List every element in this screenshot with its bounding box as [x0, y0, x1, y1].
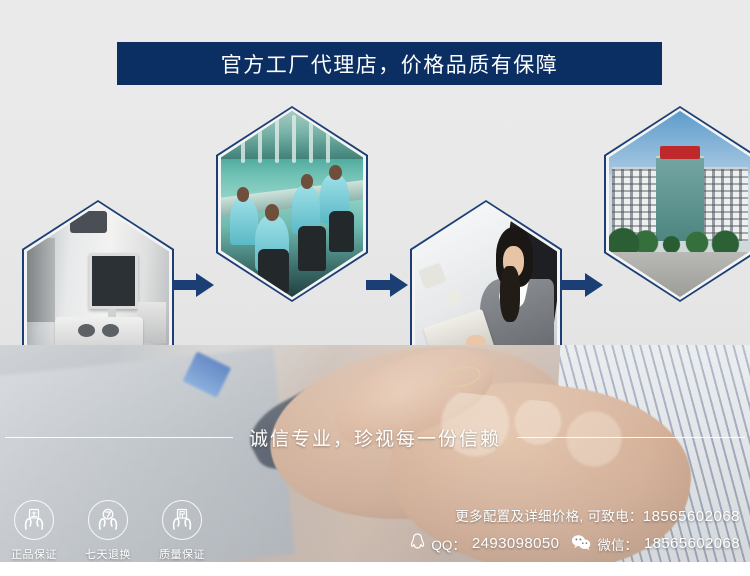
- arrow-right-icon: [172, 272, 214, 298]
- photo-detail: [258, 115, 262, 163]
- photo-detail: [275, 115, 279, 163]
- contact-phone-prefix: 更多配置及详细价格, 可致电：: [455, 509, 643, 524]
- page-title: 官方工厂代理店，价格品质有保障: [221, 49, 559, 79]
- qq-number[interactable]: 2493098050: [472, 535, 559, 552]
- flow-step-factory[interactable]: [216, 106, 368, 302]
- promo-page: 官方工厂代理店，价格品质有保障: [0, 0, 750, 576]
- photo-detail: [329, 165, 342, 180]
- flow-step-company[interactable]: [604, 106, 750, 302]
- hands-quality-icon: [162, 500, 202, 540]
- slogan-rule-left: [5, 437, 233, 438]
- qq-label: QQ：: [431, 534, 466, 554]
- bottom-white-bar: [0, 562, 750, 576]
- contact-phone-number[interactable]: 18565602068: [643, 508, 740, 525]
- top-section: 官方工厂代理店，价格品质有保障: [0, 0, 750, 345]
- slogan-rule-right: [517, 437, 745, 438]
- photo-detail: [329, 211, 355, 252]
- qq-penguin-icon: [410, 533, 425, 554]
- photo-detail: [265, 204, 279, 221]
- photo-detail: [326, 115, 330, 163]
- trust-banner-section: 诚信专业，珍视每一份信赖 正品保证: [0, 345, 750, 562]
- process-flow: [0, 100, 750, 330]
- wechat-number[interactable]: 18565602068: [644, 535, 740, 552]
- photo-detail: [298, 226, 326, 271]
- slogan-text: 诚信专业，珍视每一份信赖: [249, 424, 501, 451]
- badge-genuine: 正品保证: [8, 500, 60, 562]
- photo-detail: [70, 211, 107, 233]
- badge-quality: 质量保证: [156, 500, 208, 562]
- contact-block: 更多配置及详细价格, 可致电：18565602068 QQ：2493098050: [410, 505, 740, 554]
- photo-detail: [292, 115, 296, 163]
- slogan-row: 诚信专业，珍视每一份信赖: [0, 424, 750, 451]
- photo-detail: [500, 266, 520, 322]
- contact-im-row: QQ：2493098050 微信：18565602068: [410, 533, 740, 554]
- badge-label: 七天退换: [82, 546, 134, 562]
- photo-detail: [446, 289, 462, 306]
- wechat-label: 微信：: [597, 534, 638, 554]
- guarantee-badges: 正品保证 七天退换: [8, 500, 208, 562]
- badge-seven-day-return: 七天退换: [82, 500, 134, 562]
- photo-detail-monitor: [89, 253, 137, 309]
- hands-genuine-icon: [14, 500, 54, 540]
- contact-phone-row: 更多配置及详细价格, 可致电：18565602068: [410, 505, 740, 525]
- arrow-right-icon: [561, 272, 603, 298]
- photo-detail-signage: [660, 146, 700, 159]
- hands-seven-day-return-icon: [88, 500, 128, 540]
- photo-detail: [230, 197, 258, 245]
- arrow-right-icon: [366, 272, 408, 298]
- badge-label: 正品保证: [8, 546, 60, 562]
- photo-detail: [609, 252, 750, 297]
- wechat-icon: [571, 534, 591, 554]
- photo-detail: [27, 238, 55, 322]
- badge-label: 质量保证: [156, 546, 208, 562]
- photo-detail: [55, 317, 143, 349]
- header-banner: 官方工厂代理店，价格品质有保障: [117, 42, 662, 85]
